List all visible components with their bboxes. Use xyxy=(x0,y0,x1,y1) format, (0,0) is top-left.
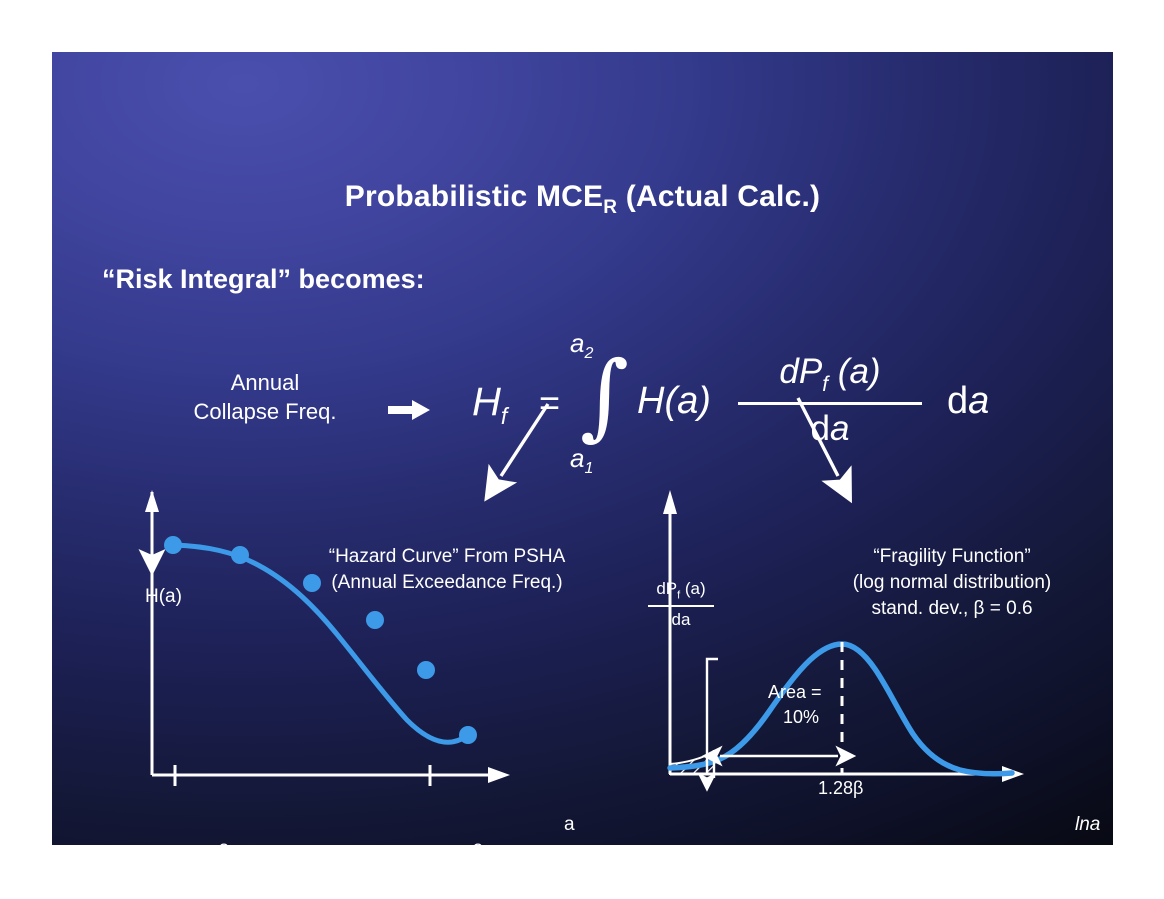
fragility-chart-title: “Fragility Function” (log normal distrib… xyxy=(792,544,1112,622)
fragility-title-line-3: stand. dev., β = 0.6 xyxy=(871,598,1032,619)
amcer-symbol: a xyxy=(763,841,774,845)
fragility-y-axis-arrowhead xyxy=(663,490,677,514)
fragility-function-chart xyxy=(52,52,1113,845)
fragility-y-numerator: dPf (a) xyxy=(644,579,718,601)
fragility-y-dp: dP xyxy=(656,579,677,598)
amcer-axis-label: aMCER xyxy=(763,841,807,845)
fragility-title-line-1: “Fragility Function” xyxy=(873,546,1030,567)
fragility-y-denominator: da xyxy=(644,610,718,630)
fragility-y-arg: (a) xyxy=(680,579,706,598)
beta-offset-label: 1.28β xyxy=(818,778,863,799)
fragility-x-axis-label: lna xyxy=(1075,814,1100,836)
area-percent-value: 10% xyxy=(783,707,819,728)
fragility-y-axis-label: dPf (a) da xyxy=(644,579,718,630)
fragility-y-fraction-bar xyxy=(648,605,714,607)
fragility-title-line-2: (log normal distribution) xyxy=(853,572,1052,593)
slide-canvas: Probabilistic MCER (Actual Calc.) “Risk … xyxy=(52,52,1113,845)
area-label: Area = xyxy=(768,682,822,703)
